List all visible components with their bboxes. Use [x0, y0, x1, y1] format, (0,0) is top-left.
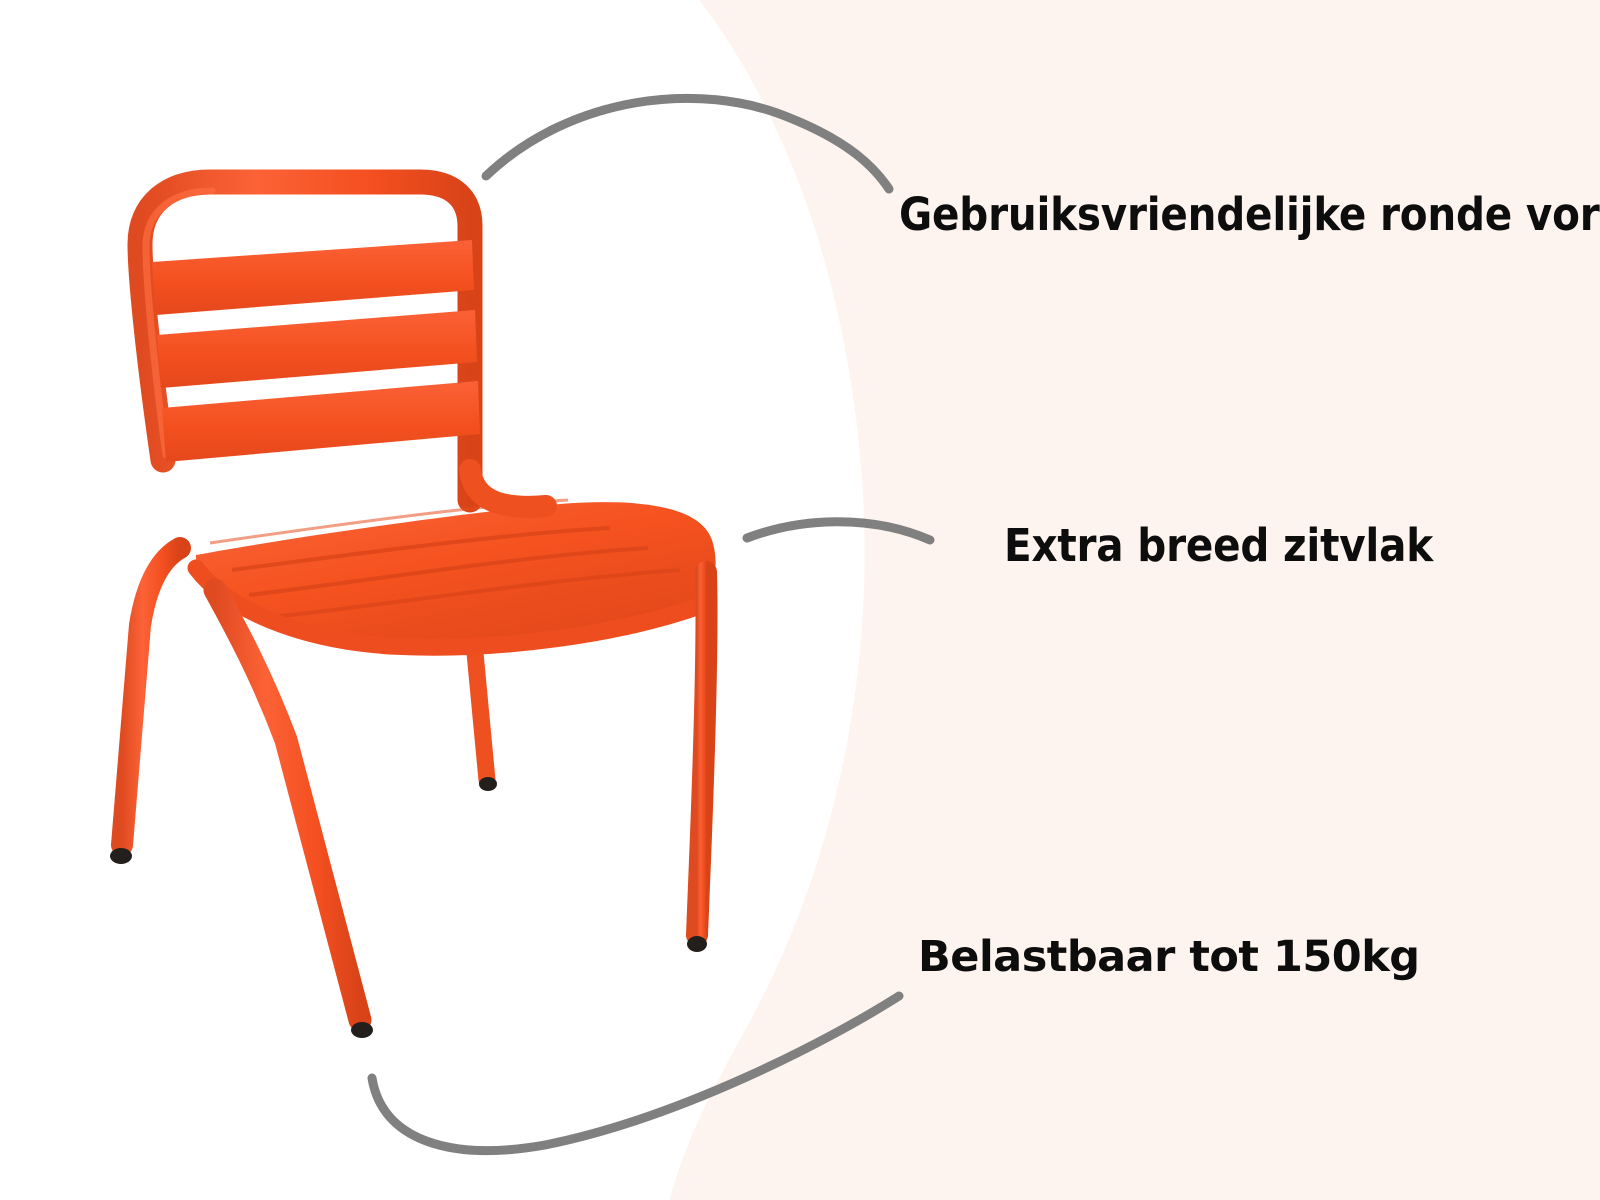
callout-label-rounded-shapes: Gebruiksvriendelijke ronde vormen	[899, 192, 1600, 237]
callout-label-wide-seat: Extra breed zitvlak	[1004, 523, 1433, 568]
leader-bottom-icon	[372, 996, 899, 1151]
leader-top-icon	[486, 98, 889, 189]
callout-label-max-load: Belastbaar tot 150kg	[918, 936, 1420, 979]
leader-middle-icon	[747, 522, 930, 540]
infographic-canvas: Gebruiksvriendelijke ronde vormen Extra …	[0, 0, 1600, 1200]
leader-lines-layer	[0, 0, 1600, 1200]
